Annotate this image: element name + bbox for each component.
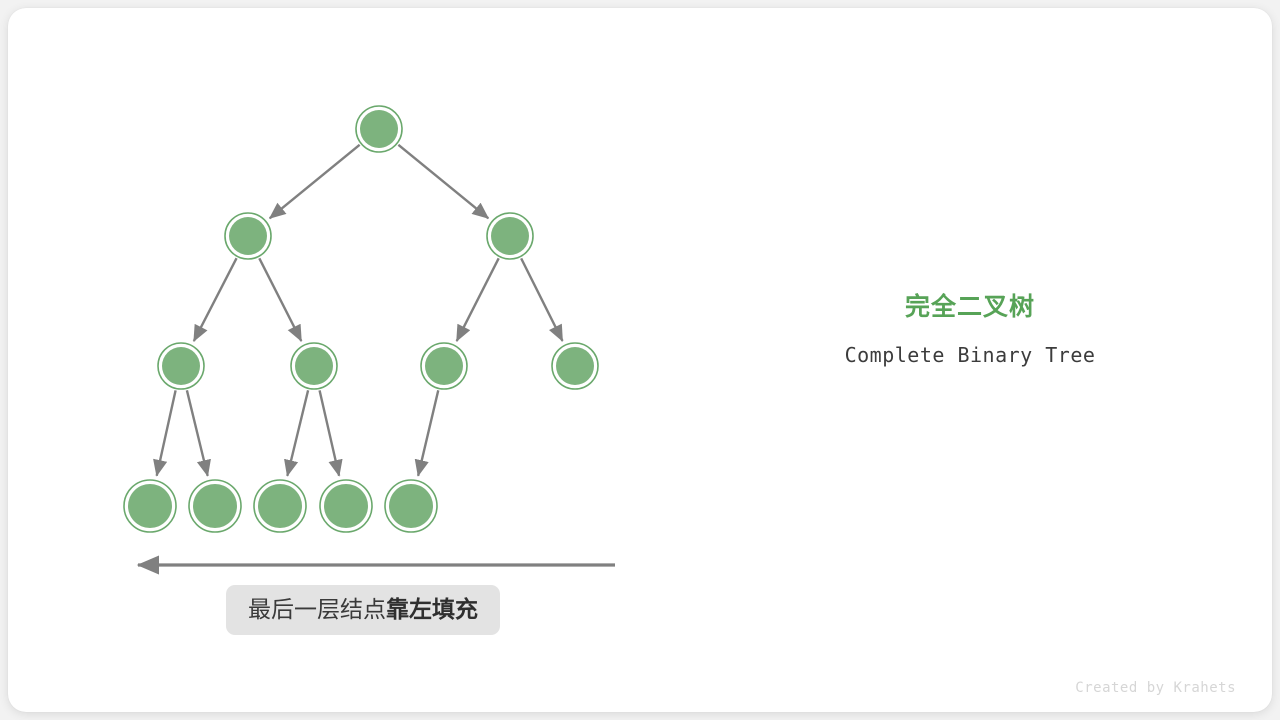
tree-node-fill [389,484,433,528]
tree-node-fill [162,347,200,385]
caption-last-level-left-aligned: 最后一层结点靠左填充 [226,585,500,635]
tree-edge [187,390,208,476]
caption-bold-text: 靠左填充 [386,596,478,622]
tree-edge [320,390,340,475]
tree-nodes [124,106,598,532]
tree-node[interactable] [552,343,598,389]
tree-node-fill [556,347,594,385]
tree-node-fill [360,110,398,148]
tree-node[interactable] [124,480,176,532]
tree-edge [157,390,176,475]
tree-edge [259,258,301,341]
tree-node-fill [128,484,172,528]
page-subtitle: Complete Binary Tree [760,342,1180,368]
tree-node-fill [295,347,333,385]
tree-node[interactable] [189,480,241,532]
tree-node[interactable] [356,106,402,152]
tree-node[interactable] [225,213,271,259]
tree-edge [521,258,562,341]
tree-node-fill [258,484,302,528]
tree-node[interactable] [158,343,204,389]
tree-edge [194,258,237,341]
tree-node[interactable] [320,480,372,532]
tree-edges [157,145,563,476]
tree-node-fill [193,484,237,528]
caption-normal-text: 最后一层结点 [248,596,386,622]
tree-edge [287,390,308,476]
tree-edge [418,390,438,475]
slide-canvas: 最后一层结点靠左填充 完全二叉树 Complete Binary Tree Cr… [0,0,1280,720]
tree-node[interactable] [421,343,467,389]
tree-edge [398,145,488,218]
tree-node-fill [491,217,529,255]
page-title: 完全二叉树 [760,290,1180,324]
tree-node-fill [324,484,368,528]
credit-text: Created by Krahets [1075,680,1236,696]
title-panel: 完全二叉树 Complete Binary Tree [760,290,1180,368]
tree-node[interactable] [254,480,306,532]
tree-node[interactable] [385,480,437,532]
tree-edge [457,258,499,341]
tree-node[interactable] [487,213,533,259]
tree-edge [270,145,360,218]
tree-node-fill [425,347,463,385]
tree-node-fill [229,217,267,255]
tree-node[interactable] [291,343,337,389]
